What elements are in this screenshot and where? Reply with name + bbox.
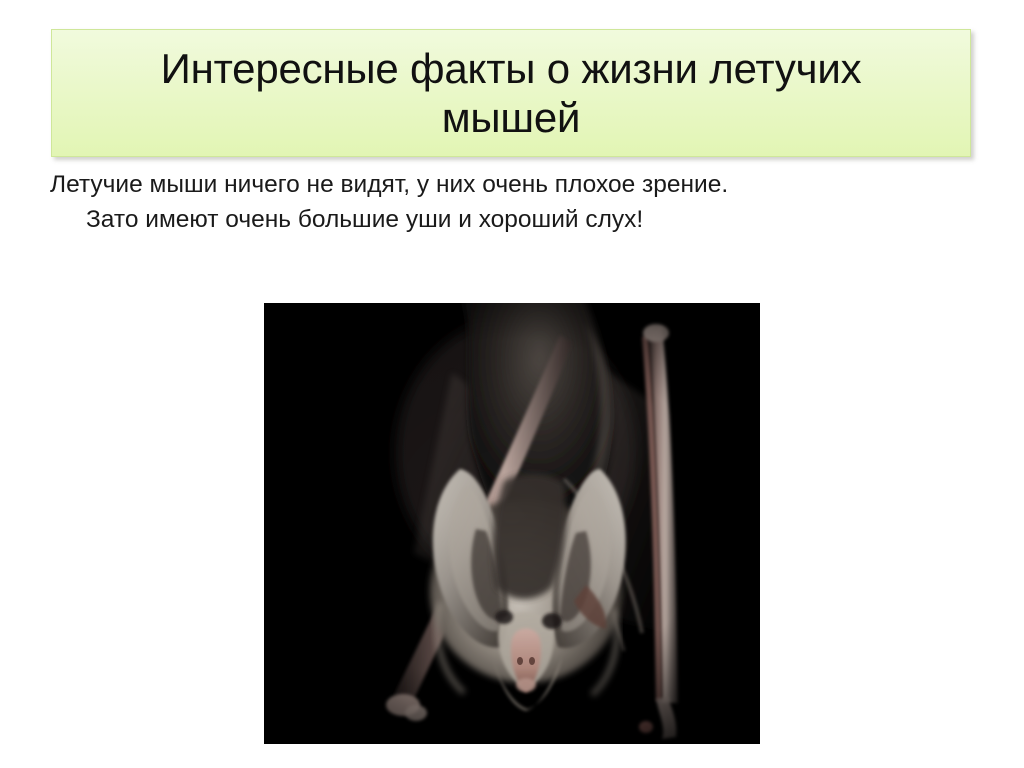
bat-photo xyxy=(264,303,760,744)
body-line-2: Зато имеют очень большие уши и хороший с… xyxy=(44,203,894,238)
slide-title-box: Интересные факты о жизни летучих мышей xyxy=(51,29,971,157)
bat-illustration xyxy=(264,303,760,744)
title-line-2: мышей xyxy=(442,94,581,141)
page-title: Интересные факты о жизни летучих мышей xyxy=(147,44,876,142)
slide-body-text: Летучие мыши ничего не видят, у них очен… xyxy=(44,168,894,238)
title-line-1: Интересные факты о жизни летучих xyxy=(161,45,862,92)
slide-canvas: Интересные факты о жизни летучих мышей Л… xyxy=(0,0,1024,768)
body-line-1: Летучие мыши ничего не видят, у них очен… xyxy=(44,168,894,203)
